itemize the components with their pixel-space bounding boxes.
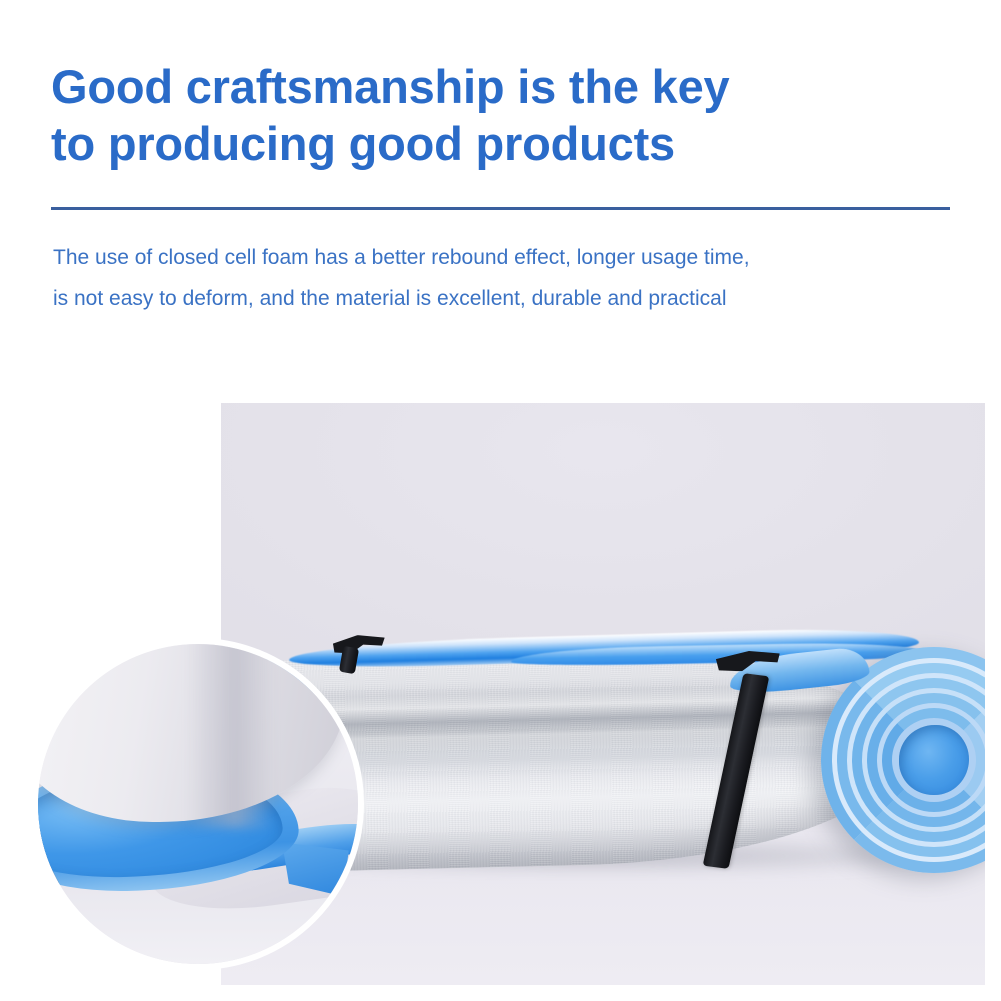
detail-inset-circle bbox=[32, 638, 364, 970]
rolled-mat bbox=[261, 631, 981, 881]
mat-roll-end bbox=[821, 647, 985, 873]
page-title-line-1: Good craftsmanship is the key bbox=[51, 58, 931, 115]
page-subtitle-line-1: The use of closed cell foam has a better… bbox=[53, 238, 953, 279]
page-title-line-2: to producing good products bbox=[51, 115, 931, 172]
title-divider bbox=[51, 207, 950, 210]
promo-banner: Good craftsmanship is the key to produci… bbox=[0, 0, 1001, 1001]
folded-sheet-upper-shading bbox=[188, 638, 274, 828]
page-subtitle-line-2: is not easy to deform, and the material … bbox=[53, 279, 953, 320]
detail-inset-scene bbox=[38, 644, 358, 964]
foam-roll-core bbox=[899, 725, 969, 795]
page-title: Good craftsmanship is the key to produci… bbox=[51, 58, 931, 173]
page-subtitle: The use of closed cell foam has a better… bbox=[53, 238, 953, 320]
